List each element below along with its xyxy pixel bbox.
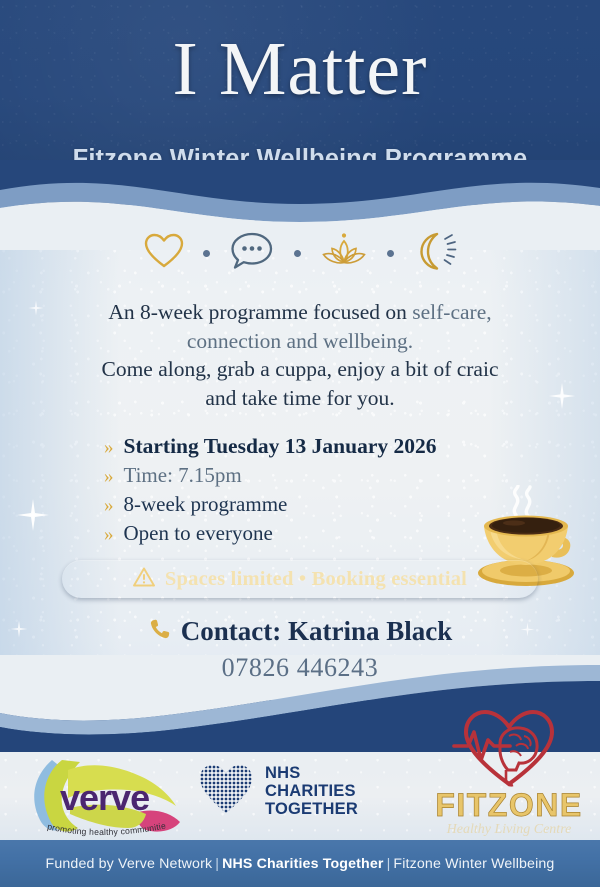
chevron-bullet-icon: » xyxy=(104,491,114,520)
intro-line1-a: An 8-week programme focused on xyxy=(108,300,412,324)
nhs-charities-text: NHS CHARITIES TOGETHER xyxy=(265,764,386,818)
list-item: » Starting Tuesday 13 January 2026 xyxy=(104,432,504,461)
heart-brain-icon xyxy=(454,712,552,785)
dotted-heart-icon xyxy=(196,761,256,822)
contact-phone-number: 07826 446243 xyxy=(0,650,600,686)
phone-icon xyxy=(148,617,172,646)
chevron-bullet-icon: » xyxy=(104,462,114,491)
footer-bar: Funded by Verve Network|NHS Charities To… xyxy=(0,840,600,887)
details-list: » Starting Tuesday 13 January 2026 » Tim… xyxy=(104,432,504,548)
intro-line4: and take time for you. xyxy=(205,386,394,410)
notice-banner: Spaces limited • Booking essential xyxy=(62,560,538,598)
intro-line1-b: self-care, xyxy=(412,300,491,324)
dot-separator xyxy=(203,250,210,257)
list-item: » Open to everyone xyxy=(104,519,504,548)
notice-text: Spaces limited • Booking essential xyxy=(165,568,467,591)
detail-eligibility: Open to everyone xyxy=(124,519,273,548)
contact-block: Contact: Katrina Black 07826 446243 xyxy=(0,614,600,686)
nhs-charities-together-logo: NHS CHARITIES TOGETHER xyxy=(196,760,386,822)
svg-text:verve: verve xyxy=(60,777,149,818)
detail-duration: 8-week programme xyxy=(124,490,288,519)
poster: I Matter Fitzone Winter Wellbeing Progra… xyxy=(0,0,600,887)
intro-paragraph: An 8-week programme focused on self-care… xyxy=(40,298,560,412)
detail-start-date: Starting Tuesday 13 January 2026 xyxy=(124,432,437,461)
nhs-charities-line1: NHS CHARITIES xyxy=(265,764,386,800)
footer-part2: NHS Charities Together xyxy=(222,856,384,872)
dot-separator xyxy=(387,250,394,257)
list-item: » Time: 7.15pm xyxy=(104,461,504,490)
footer-part1: Funded by Verve Network xyxy=(46,856,213,872)
lotus-icon xyxy=(319,231,369,276)
contact-name: Contact: Katrina Black xyxy=(181,614,452,648)
intro-line2: connection and wellbeing. xyxy=(187,329,413,353)
detail-time: Time: 7.15pm xyxy=(124,461,242,490)
verve-logo: verve promoting healthy communities xyxy=(18,748,198,840)
chevron-bullet-icon: » xyxy=(104,520,114,549)
list-item: » 8-week programme xyxy=(104,490,504,519)
nhs-charities-line2: TOGETHER xyxy=(265,800,386,818)
footer-credits: Funded by Verve Network|NHS Charities To… xyxy=(46,856,555,872)
footer-part3: Fitzone Winter Wellbeing xyxy=(393,856,554,872)
fitzone-tagline: Healthy Living Centre xyxy=(446,822,572,837)
footer-separator: | xyxy=(212,856,222,872)
footer-separator: | xyxy=(384,856,394,872)
page-title: I Matter xyxy=(0,24,600,114)
fitzone-logo: FITZONE Healthy Living Centre xyxy=(424,700,594,840)
chevron-bullet-icon: » xyxy=(104,433,114,462)
intro-line3: Come along, grab a cuppa, enjoy a bit of… xyxy=(101,357,498,381)
crescent-moon-icon xyxy=(412,230,458,277)
wellbeing-icon-row xyxy=(0,222,600,284)
fitzone-wordmark: FITZONE xyxy=(435,787,582,823)
warning-triangle-icon xyxy=(133,567,155,592)
heart-icon xyxy=(143,232,185,275)
dot-separator xyxy=(294,250,301,257)
speech-bubble-icon xyxy=(228,230,276,277)
